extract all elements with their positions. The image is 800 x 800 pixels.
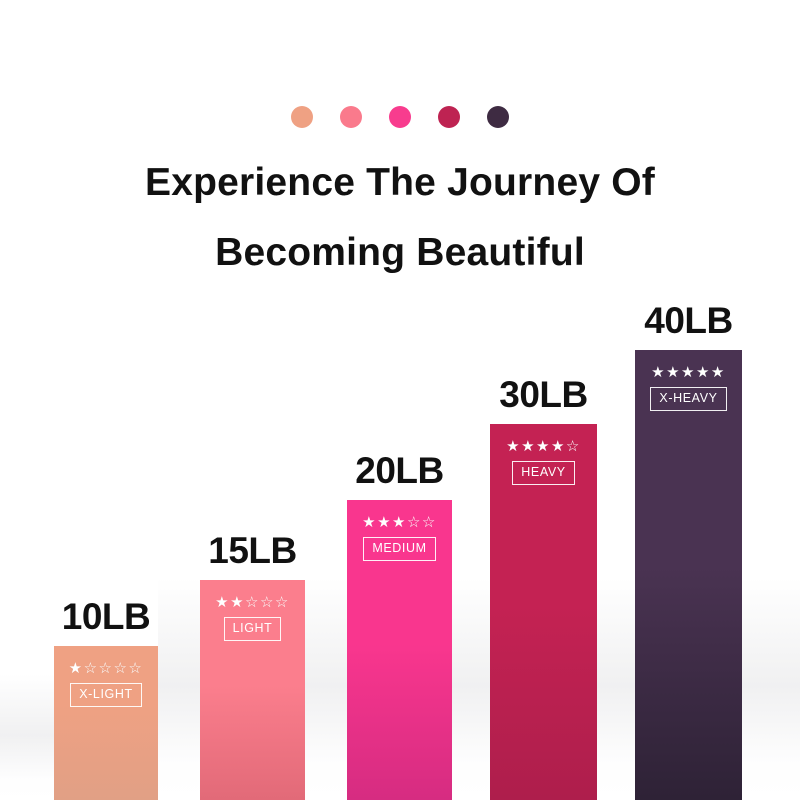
- star-rating-icon: ★★★☆☆: [362, 514, 437, 531]
- bar-weight-label: 40LB: [644, 300, 732, 342]
- bar-weight-label: 15LB: [208, 530, 296, 572]
- bar-body[interactable]: ★★★★★X-HEAVY: [635, 350, 742, 800]
- star-rating-icon: ★★☆☆☆: [215, 594, 290, 611]
- bar-meta: ★★★★☆HEAVY: [490, 438, 597, 485]
- bar-weight-label: 30LB: [499, 374, 587, 416]
- bar-group-15lb[interactable]: 15LB★★☆☆☆LIGHT: [200, 580, 305, 800]
- star-rating-icon: ★★★★☆: [506, 438, 581, 455]
- bar-meta: ★★☆☆☆LIGHT: [200, 594, 305, 641]
- bar-gap-shadow: [452, 500, 490, 800]
- bar-gap-shadow: [597, 500, 635, 800]
- bar-group-40lb[interactable]: 40LB★★★★★X-HEAVY: [635, 350, 742, 800]
- tier-badge: MEDIUM: [363, 537, 435, 561]
- bar-weight-label: 10LB: [62, 596, 150, 638]
- bar-group-20lb[interactable]: 20LB★★★☆☆MEDIUM: [347, 500, 452, 800]
- bar-fill: [635, 350, 742, 800]
- bar-body[interactable]: ★★★★☆HEAVY: [490, 424, 597, 800]
- star-rating-icon: ★☆☆☆☆: [69, 660, 144, 677]
- bar-body[interactable]: ★★★☆☆MEDIUM: [347, 500, 452, 800]
- tier-badge: X-HEAVY: [650, 387, 726, 411]
- star-rating-icon: ★★★★★: [651, 364, 726, 381]
- tier-badge: LIGHT: [224, 617, 282, 641]
- bar-meta: ★★★☆☆MEDIUM: [347, 514, 452, 561]
- bar-gap-shadow: [158, 500, 200, 800]
- tier-badge: X-LIGHT: [70, 683, 142, 707]
- bar-gap-shadow: [742, 500, 800, 800]
- bar-meta: ★☆☆☆☆X-LIGHT: [54, 660, 158, 707]
- bar-group-30lb[interactable]: 30LB★★★★☆HEAVY: [490, 424, 597, 800]
- bar-body[interactable]: ★★☆☆☆LIGHT: [200, 580, 305, 800]
- tier-badge: HEAVY: [512, 461, 574, 485]
- bar-body[interactable]: ★☆☆☆☆X-LIGHT: [54, 646, 158, 800]
- bar-gap-shadow: [0, 630, 54, 800]
- bar-group-10lb[interactable]: 10LB★☆☆☆☆X-LIGHT: [54, 646, 158, 800]
- resistance-bar-chart: 10LB★☆☆☆☆X-LIGHT15LB★★☆☆☆LIGHT20LB★★★☆☆M…: [0, 0, 800, 800]
- product-infographic: Experience The Journey Of Becoming Beaut…: [0, 0, 800, 800]
- bar-meta: ★★★★★X-HEAVY: [635, 364, 742, 411]
- bar-gap-shadow: [305, 500, 347, 800]
- bar-weight-label: 20LB: [355, 450, 443, 492]
